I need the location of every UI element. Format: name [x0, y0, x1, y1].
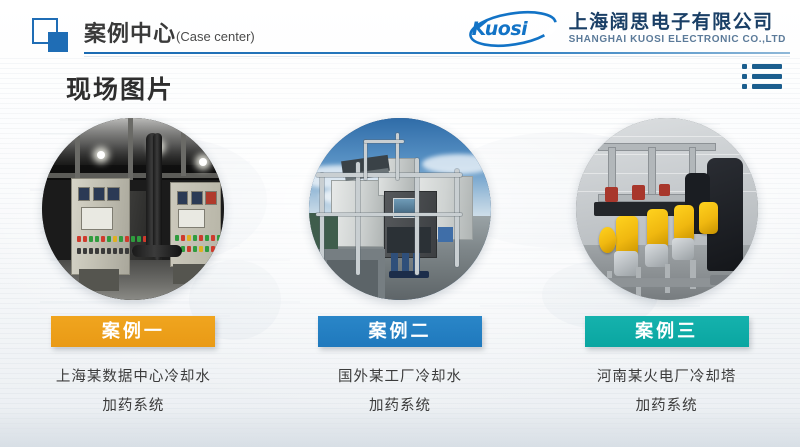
case-card-row: 案例一 上海某数据中心冷却水 加药系统 [0, 118, 800, 438]
case-caption: 河南某火电厂冷却塔 加药系统 [597, 363, 737, 421]
industrial-control-room-photo [42, 118, 224, 300]
case-badge[interactable]: 案例二 [318, 316, 482, 347]
menu-bar [752, 74, 782, 79]
menu-dot [742, 74, 747, 79]
case-caption-line-2: 加药系统 [56, 392, 211, 421]
case-card[interactable]: 案例二 国外某工厂冷却水 加药系统 [267, 118, 534, 438]
company-name-cn: 上海阔思电子有限公司 [569, 12, 786, 34]
case-card[interactable]: 案例一 上海某数据中心冷却水 加药系统 [0, 118, 267, 438]
menu-dot [742, 64, 747, 69]
case-caption-line-1: 上海某数据中心冷却水 [56, 363, 211, 392]
page-title: 案例中心(Case center) [84, 16, 255, 48]
menu-row-2 [742, 74, 782, 79]
slide-root: 案例中心(Case center) Kuosi 上海阔思电子有限公司 SHANG… [0, 0, 800, 447]
case-badge[interactable]: 案例一 [51, 316, 215, 347]
case-caption-line-1: 河南某火电厂冷却塔 [597, 363, 737, 392]
company-name-block: 上海阔思电子有限公司 SHANGHAI KUOSI ELECTRONIC CO.… [569, 12, 786, 47]
case-badge[interactable]: 案例三 [585, 316, 749, 347]
kuosi-logo-icon: Kuosi [467, 9, 559, 49]
company-name-en: SHANGHAI KUOSI ELECTRONIC CO.,LTD [569, 33, 786, 46]
case-card[interactable]: 案例三 河南某火电厂冷却塔 加药系统 [533, 118, 800, 438]
page-header: 案例中心(Case center) Kuosi 上海阔思电子有限公司 SHANG… [0, 0, 800, 58]
menu-dot [742, 84, 747, 89]
header-divider-shadow [84, 56, 790, 57]
page-title-en: (Case center) [176, 29, 255, 44]
case-photo [576, 118, 758, 300]
case-photo [42, 118, 224, 300]
double-square-icon [32, 18, 72, 52]
kuosi-wordmark: Kuosi [472, 18, 528, 40]
case-caption-line-2: 加药系统 [338, 392, 462, 421]
section-heading: 现场图片 [66, 70, 174, 106]
case-caption-line-1: 国外某工厂冷却水 [338, 363, 462, 392]
case-caption: 上海某数据中心冷却水 加药系统 [56, 363, 211, 421]
square-filled-shape [48, 32, 68, 52]
case-caption: 国外某工厂冷却水 加药系统 [338, 363, 462, 421]
header-divider [84, 52, 790, 54]
company-brand: Kuosi 上海阔思电子有限公司 SHANGHAI KUOSI ELECTRON… [467, 6, 786, 52]
page-title-cn: 案例中心 [84, 21, 176, 46]
case-photo [309, 118, 491, 300]
case-caption-line-2: 加药系统 [597, 392, 737, 421]
menu-row-1 [742, 64, 782, 69]
menu-row-3 [742, 84, 782, 89]
outdoor-dosing-skid-photo [309, 118, 491, 300]
menu-bar [752, 64, 782, 69]
menu-bar [752, 84, 782, 89]
list-menu-icon[interactable] [742, 62, 782, 92]
yellow-dosing-pumps-photo [576, 118, 758, 300]
